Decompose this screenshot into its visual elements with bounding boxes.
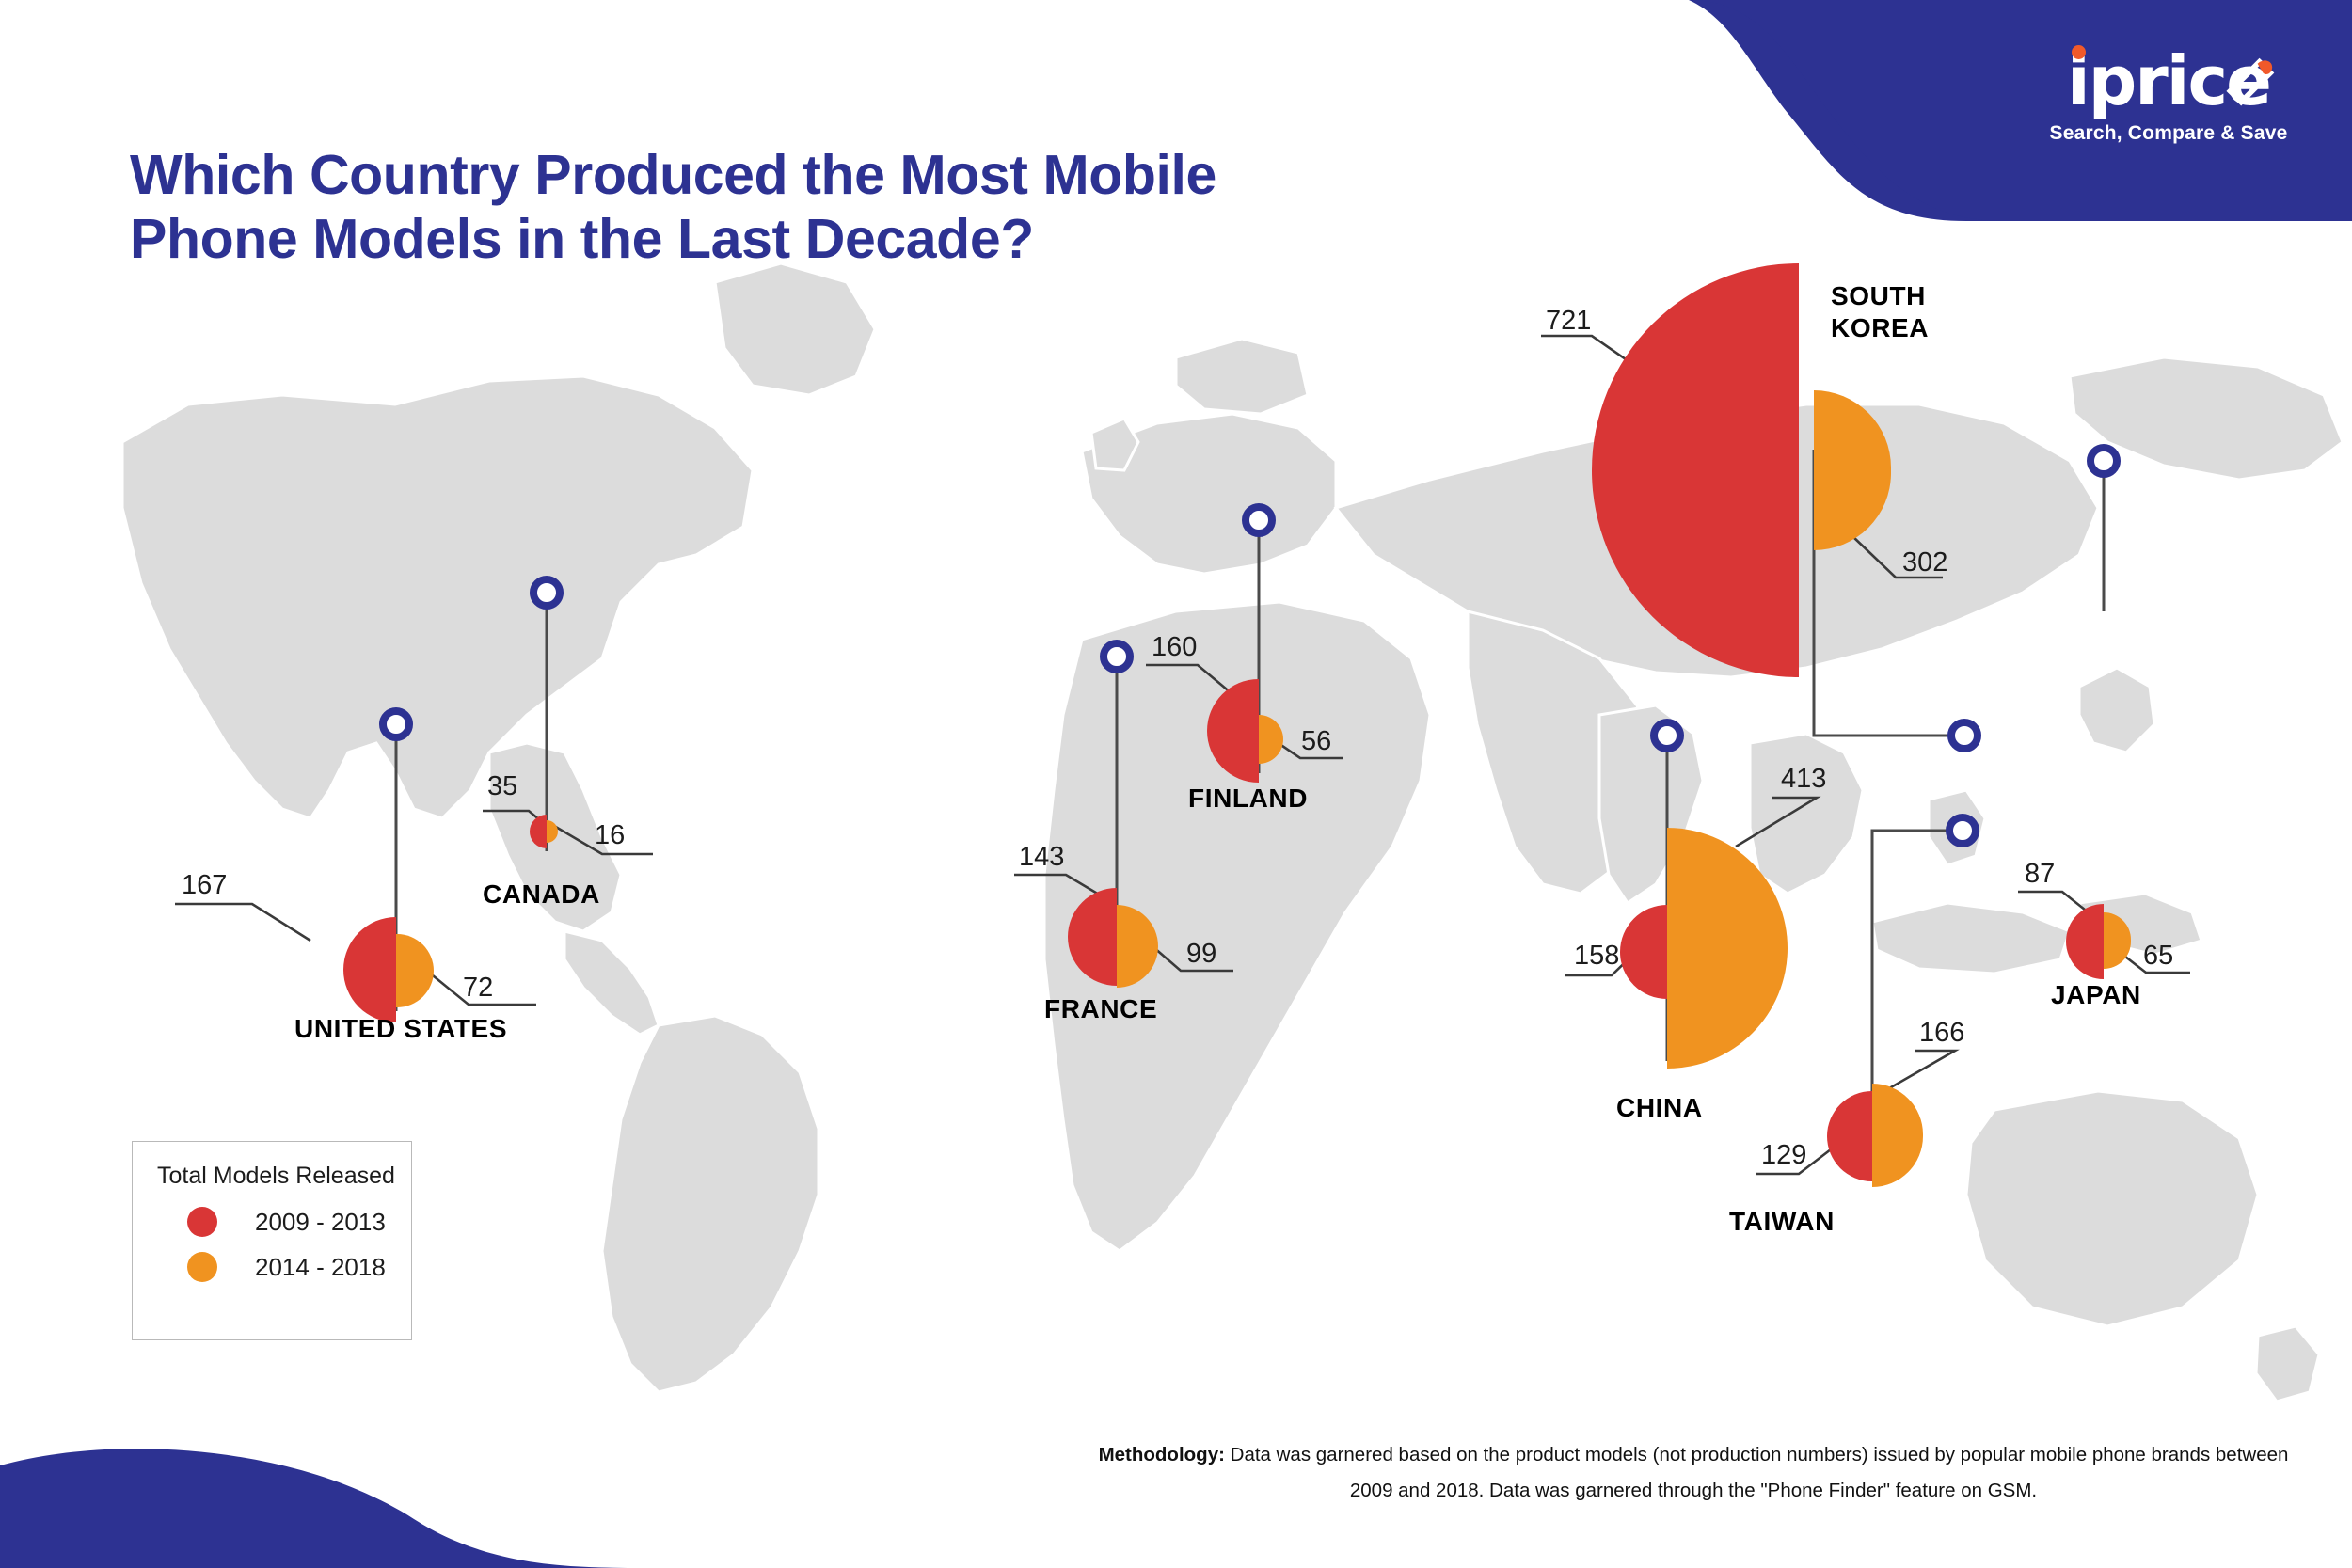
label-taiwan: TAIWAN (1729, 1207, 1835, 1237)
legend-swatch-red (187, 1207, 217, 1237)
legend-item-2009-2013: 2009 - 2013 (187, 1207, 411, 1237)
label-united-states: UNITED STATES (294, 1014, 507, 1044)
methodology-label: Methodology: (1099, 1444, 1225, 1465)
page-title: Which Country Produced the Most Mobile P… (130, 143, 1353, 272)
price-tag-icon (2217, 56, 2276, 115)
value-france-p2: 99 (1186, 939, 1216, 970)
label-canada: CANADA (483, 879, 600, 910)
legend-swatch-orange (187, 1252, 217, 1282)
value-taiwan-p2: 166 (1919, 1018, 1964, 1049)
legend: Total Models Released 2009 - 2013 2014 -… (132, 1141, 412, 1340)
value-canada-p1: 35 (487, 771, 517, 802)
value-south-korea-p1: 721 (1546, 306, 1591, 337)
label-france: FRANCE (1044, 994, 1157, 1024)
label-south-korea: SOUTH KOREA (1831, 280, 1929, 344)
value-china-p2: 413 (1781, 764, 1826, 795)
label-south-korea-line2: KOREA (1831, 313, 1929, 342)
value-finland-p1: 160 (1152, 632, 1197, 663)
value-taiwan-p1: 129 (1761, 1140, 1806, 1171)
value-south-korea-p2: 302 (1902, 547, 1947, 578)
methodology-note: Methodology: Data was garnered based on … (1087, 1437, 2300, 1509)
label-japan: JAPAN (2051, 980, 2141, 1010)
page-title-line2: Phone Models in the Last Decade? (130, 207, 1353, 271)
logo-tagline: Search, Compare & Save (2013, 122, 2324, 145)
legend-label-2014-2018: 2014 - 2018 (255, 1253, 386, 1282)
page-title-line1: Which Country Produced the Most Mobile (130, 143, 1353, 207)
logo-orange-dot-icon (2072, 45, 2086, 59)
legend-title: Total Models Released (157, 1163, 411, 1190)
value-japan-p2: 65 (2143, 941, 2173, 972)
label-china: CHINA (1616, 1093, 1703, 1123)
legend-label-2009-2013: 2009 - 2013 (255, 1208, 386, 1237)
label-finland: FINLAND (1188, 784, 1308, 814)
value-finland-p2: 56 (1301, 726, 1331, 757)
legend-item-2014-2018: 2014 - 2018 (187, 1252, 411, 1282)
value-canada-p2: 16 (595, 820, 625, 851)
logo-wordmark-wrap: iprice (2067, 47, 2270, 119)
infographic-page: Which Country Produced the Most Mobile P… (0, 0, 2352, 1568)
value-us-p2: 72 (463, 973, 493, 1004)
methodology-text: Data was garnered based on the product m… (1225, 1444, 2288, 1501)
value-france-p1: 143 (1019, 842, 1064, 873)
value-us-p1: 167 (182, 870, 227, 901)
iprice-logo[interactable]: iprice Search, Compare & Save (2013, 47, 2324, 145)
value-china-p1: 158 (1574, 941, 1619, 972)
label-south-korea-line1: SOUTH (1831, 281, 1926, 310)
value-japan-p1: 87 (2025, 859, 2055, 890)
